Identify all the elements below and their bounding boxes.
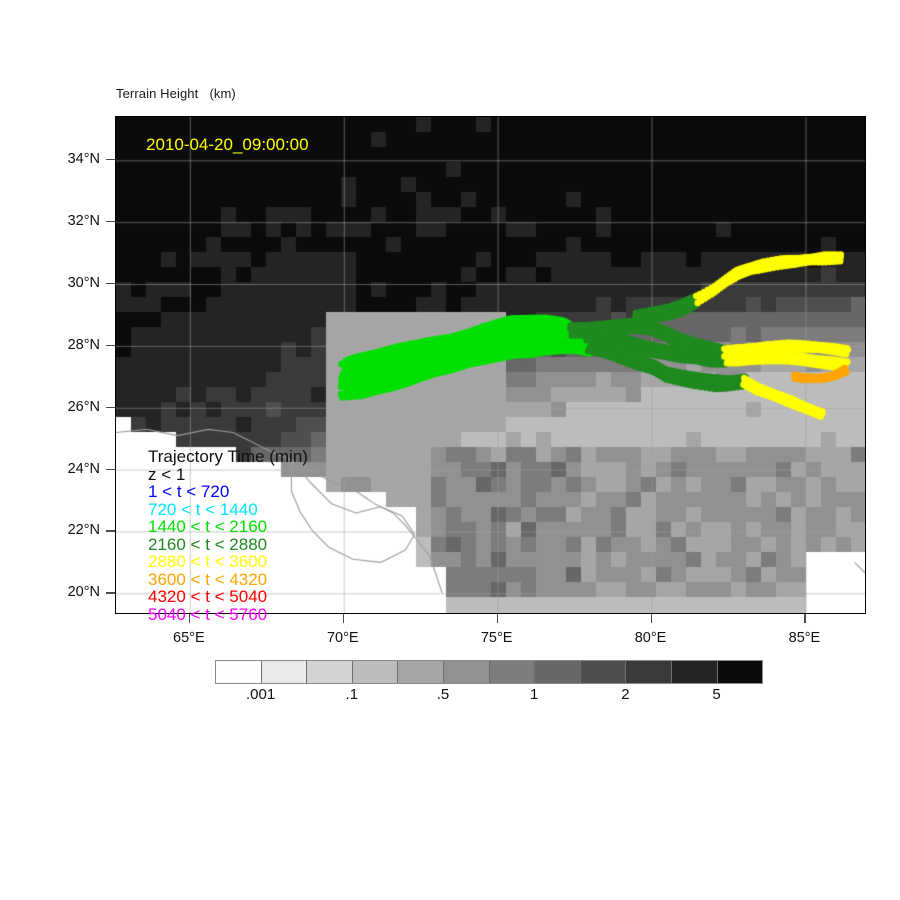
lon-tick: [804, 614, 805, 623]
figure-canvas: Terrain Height (km) 2010-04-20_09:00:00 …: [0, 0, 900, 900]
colorbar-label: 2: [590, 686, 660, 703]
lat-tick: [106, 345, 115, 346]
lat-label: 24°N: [30, 461, 100, 477]
colorbar-segment-6: [489, 661, 535, 683]
lon-tick: [497, 614, 498, 623]
colorbar-segment-5: [443, 661, 489, 683]
colorbar-label: 5: [682, 686, 752, 703]
legend-subtitle: z < 1: [148, 466, 308, 483]
legend-row-3: 2160 < t < 2880: [148, 536, 308, 554]
lat-tick: [106, 221, 115, 222]
legend-row-2: 1440 < t < 2160: [148, 518, 308, 536]
colorbar-label: .1: [317, 686, 387, 703]
legend-row-0: 1 < t < 720: [148, 483, 308, 501]
legend-row-4: 2880 < t < 3600: [148, 553, 308, 571]
colorbar-segment-0: [216, 661, 261, 683]
lon-label: 80°E: [611, 630, 691, 646]
trajectory-time-legend: Trajectory Time (min) z < 1 1 < t < 7207…: [148, 448, 308, 623]
legend-row-7: 5040 < t < 5760: [148, 606, 308, 624]
lat-label: 28°N: [30, 337, 100, 353]
colorbar-segment-1: [261, 661, 307, 683]
lat-tick: [106, 283, 115, 284]
lat-label: 30°N: [30, 275, 100, 291]
colorbar-segment-2: [306, 661, 352, 683]
lon-label: 65°E: [149, 630, 229, 646]
lat-tick: [106, 530, 115, 531]
lat-label: 20°N: [30, 584, 100, 600]
lon-tick: [343, 614, 344, 623]
page-title: Terrain Height (km): [116, 86, 236, 101]
colorbar-segment-4: [397, 661, 443, 683]
legend-row-1: 720 < t < 1440: [148, 501, 308, 519]
lon-label: 75°E: [457, 630, 537, 646]
colorbar-segment-11: [717, 661, 763, 683]
lat-tick: [106, 159, 115, 160]
colorbar-segment-8: [580, 661, 626, 683]
legend-rows: 1 < t < 720720 < t < 14401440 < t < 2160…: [148, 483, 308, 623]
colorbar-segment-10: [671, 661, 717, 683]
lat-label: 32°N: [30, 213, 100, 229]
colorbar-label: .001: [226, 686, 296, 703]
lat-tick: [106, 592, 115, 593]
colorbar-label: 1: [499, 686, 569, 703]
legend-title: Trajectory Time (min): [148, 448, 308, 465]
lat-label: 34°N: [30, 151, 100, 167]
lat-tick: [106, 407, 115, 408]
legend-row-5: 3600 < t < 4320: [148, 571, 308, 589]
timestamp-label: 2010-04-20_09:00:00: [146, 135, 309, 155]
terrain-colorbar: .001.1.5125: [215, 660, 763, 684]
lat-tick: [106, 469, 115, 470]
legend-row-6: 4320 < t < 5040: [148, 588, 308, 606]
colorbar-segment-9: [625, 661, 671, 683]
lon-label: 70°E: [303, 630, 383, 646]
colorbar-segment-7: [534, 661, 580, 683]
lat-label: 22°N: [30, 522, 100, 538]
colorbar-label: .5: [408, 686, 478, 703]
lon-tick: [651, 614, 652, 623]
lon-label: 85°E: [764, 630, 844, 646]
lat-label: 26°N: [30, 399, 100, 415]
colorbar-segment-3: [352, 661, 398, 683]
colorbar-strip: [215, 660, 763, 684]
